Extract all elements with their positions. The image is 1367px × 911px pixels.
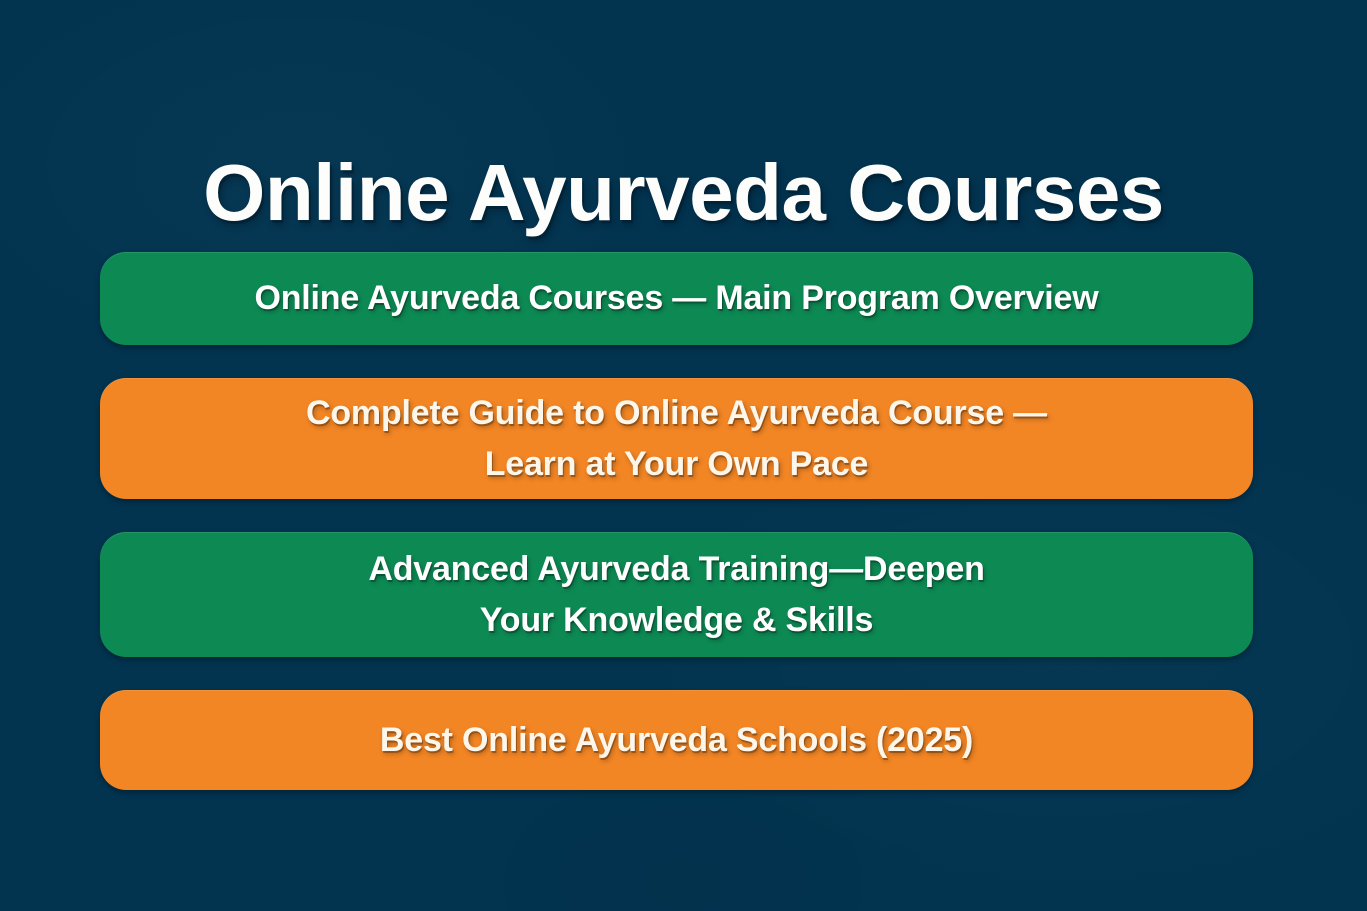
- course-bar-2-label: Complete Guide to Online Ayurveda Course…: [306, 388, 1047, 490]
- course-bar-2[interactable]: Complete Guide to Online Ayurveda Course…: [100, 378, 1253, 499]
- course-bar-4-label: Best Online Ayurveda Schools (2025): [380, 715, 973, 766]
- page-title: Online Ayurveda Courses: [0, 150, 1367, 236]
- course-bar-4[interactable]: Best Online Ayurveda Schools (2025): [100, 690, 1253, 790]
- course-bar-3[interactable]: Advanced Ayurveda Training—Deepen Your K…: [100, 532, 1253, 657]
- course-bar-1-label: Online Ayurveda Courses — Main Program O…: [254, 273, 1098, 324]
- poster-canvas: Online Ayurveda Courses Online Ayurveda …: [0, 0, 1367, 911]
- course-bar-3-label: Advanced Ayurveda Training—Deepen Your K…: [368, 544, 984, 646]
- course-link-list: Online Ayurveda Courses — Main Program O…: [100, 252, 1253, 790]
- course-bar-1[interactable]: Online Ayurveda Courses — Main Program O…: [100, 252, 1253, 345]
